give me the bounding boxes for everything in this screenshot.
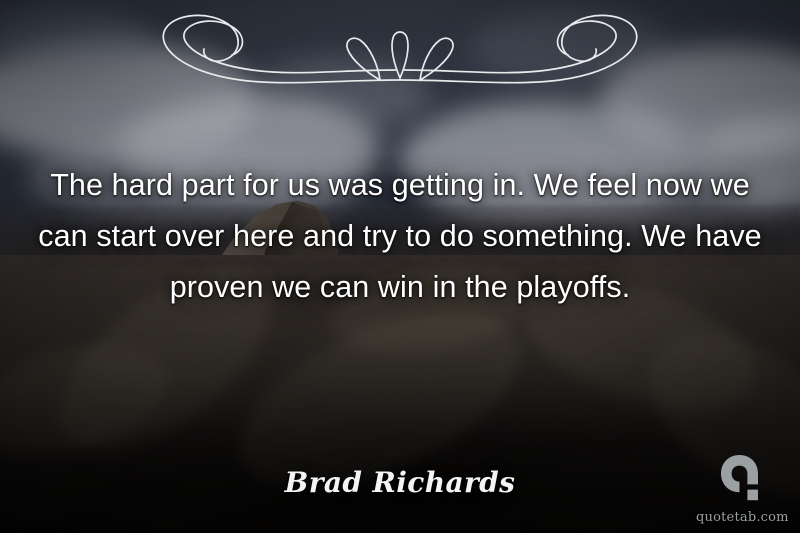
flourish-ornament — [110, 8, 690, 97]
card-content: The hard part for us was getting in. We … — [0, 0, 800, 533]
quote-author: Brad Richards — [0, 466, 800, 499]
quote-text: The hard part for us was getting in. We … — [0, 160, 800, 313]
quotetab-q-logo-icon — [696, 453, 788, 508]
flourish-icon — [110, 8, 690, 92]
watermark[interactable]: quotetab.com — [696, 453, 788, 525]
quote-card: The hard part for us was getting in. We … — [0, 0, 800, 533]
watermark-site-label: quotetab.com — [696, 510, 788, 525]
